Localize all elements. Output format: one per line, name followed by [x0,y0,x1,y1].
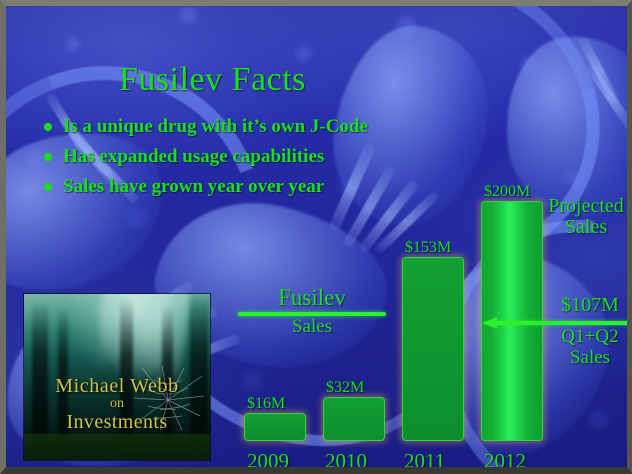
arrow-head [482,317,497,329]
bar-category-label-2009: 2009 [247,449,289,474]
q1q2-line2: Sales [544,348,632,369]
callout-subtitle: Sales [238,317,386,337]
bar-value-label-2011: $153M [405,239,451,257]
bar-category-label-2011: 2011 [404,449,445,474]
watermark-line-1: Michael Webb [24,376,210,396]
bar-value-label-2010: $32M [326,379,364,397]
bar-category-label-2010: 2010 [325,449,367,474]
q1q2-annotation: $107M Q1+Q2 Sales [544,295,632,369]
bar-value-label-2012: $200M [484,183,530,201]
slide-frame: Fusilev Facts Is a unique drug with it’s… [0,0,632,474]
bar-2011 [402,257,464,441]
fusilev-sales-callout: Fusilev Sales [238,286,386,337]
grass-foreground [24,434,210,460]
watermark-line-3: Investments [24,412,210,432]
watermark-text: Michael Webb on Investments [24,376,210,432]
bar-value-label-2009: $16M [247,395,285,413]
callout-title: Fusilev [238,286,386,309]
bar-category-label-2012: 2012 [484,449,526,474]
q1q2-amount: $107M [544,295,632,315]
bar-2009 [244,413,306,441]
watermark-line-2: on [24,397,210,411]
bar-2010 [323,397,385,441]
q1q2-line1: Q1+Q2 [544,327,632,348]
michael-webb-watermark: Michael Webb on Investments [24,294,210,460]
projected-sales-label: Projected Sales [540,196,632,238]
